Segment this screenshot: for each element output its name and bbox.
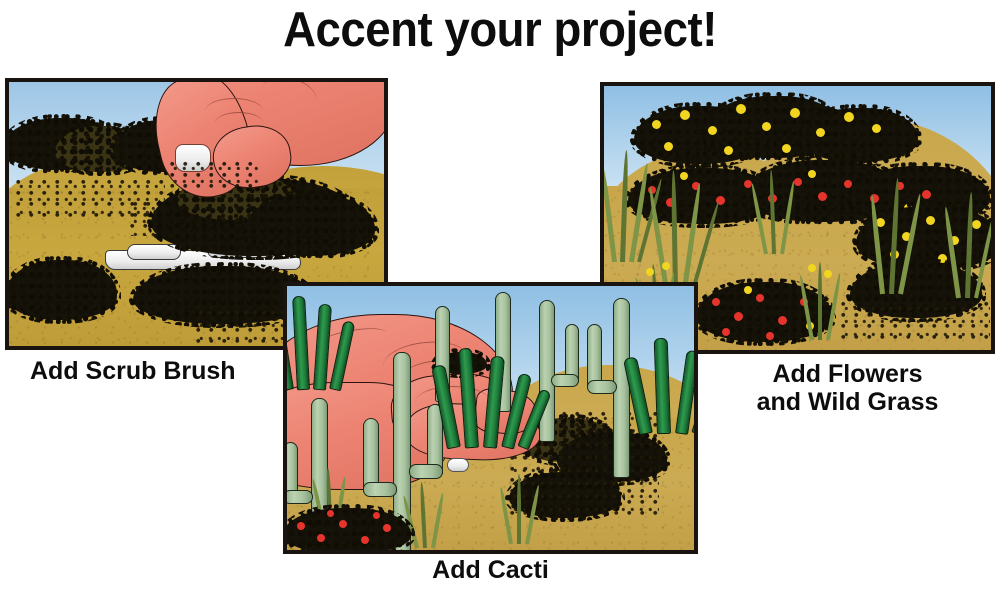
illustration-page: Accent your project! xyxy=(0,0,1000,591)
caption-add-scrub-brush: Add Scrub Brush xyxy=(30,357,236,385)
falling-flock xyxy=(169,160,259,190)
panel-add-cacti xyxy=(283,282,698,554)
scene-cacti xyxy=(287,286,694,550)
caption-add-flowers-and-wild-grass: Add Flowers and Wild Grass xyxy=(700,360,995,416)
brush-pile xyxy=(245,194,375,256)
scatter-flock xyxy=(840,300,990,340)
caption-add-cacti: Add Cacti xyxy=(283,556,698,584)
page-title: Accent your project! xyxy=(35,2,965,58)
brush-clump xyxy=(9,260,117,320)
flower-bush-red xyxy=(287,508,411,550)
